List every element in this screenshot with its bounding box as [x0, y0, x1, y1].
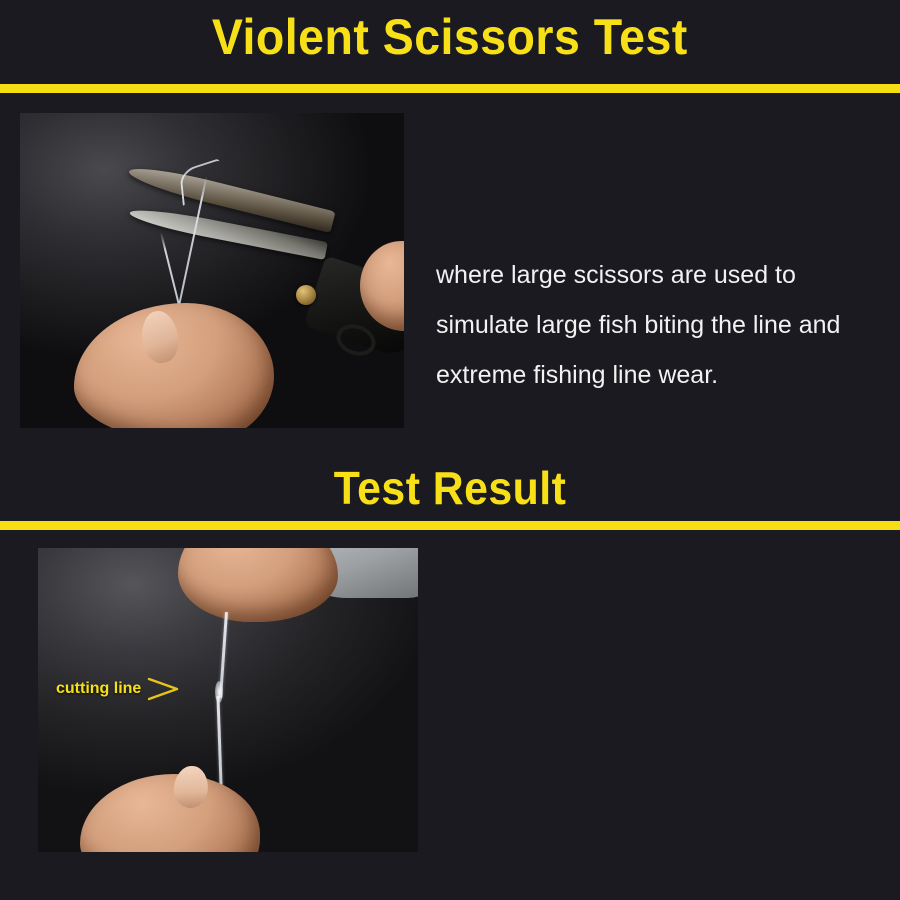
test-result-section: cutting line The fishing line is still n… — [0, 548, 900, 858]
title-divider-rule — [0, 84, 900, 93]
page-title: Violent Scissors Test — [212, 12, 688, 62]
chevron-right-arrow-icon — [147, 676, 181, 702]
scissors-test-photo — [20, 113, 404, 428]
infographic-page: Violent Scissors Test where large scisso… — [0, 0, 900, 900]
result-heading-band: Test Result — [0, 455, 900, 521]
title-band: Violent Scissors Test — [0, 0, 900, 84]
scissor-pivot-screw-icon — [296, 285, 316, 305]
result-heading: Test Result — [334, 465, 567, 511]
result-divider-rule — [0, 521, 900, 530]
scissors-test-description: where large scissors are used to simulat… — [436, 250, 882, 400]
worn-line-point — [215, 681, 223, 703]
scissors-test-section: where large scissors are used to simulat… — [0, 113, 900, 443]
cutting-line-label: cutting line — [56, 680, 141, 698]
test-result-photo: cutting line — [38, 548, 418, 852]
cutting-line-annotation: cutting line — [56, 676, 181, 702]
